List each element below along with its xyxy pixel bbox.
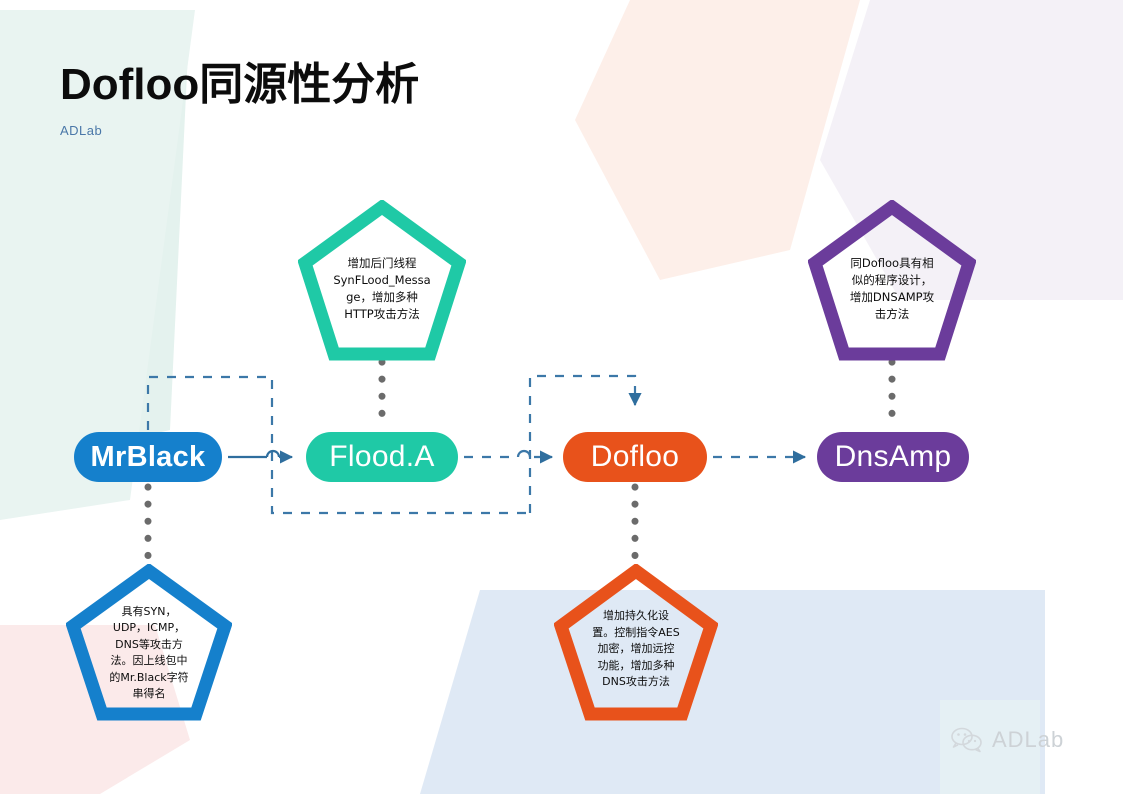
- node-dofloo[interactable]: Dofloo: [563, 432, 707, 482]
- callout-mrblack-note: 具有SYN， UDP，ICMP， DNS等攻击方 法。因上线包中 的Mr.Bla…: [66, 564, 232, 722]
- node-label: Dofloo: [591, 442, 680, 472]
- node-label: DnsAmp: [835, 442, 952, 472]
- callout-text: 同Dofloo具有相 似的程序设计， 增加DNSAMP攻 击方法: [808, 255, 976, 323]
- wechat-icon: [950, 727, 984, 753]
- callout-dnsamp-note: 同Dofloo具有相 似的程序设计， 增加DNSAMP攻 击方法: [808, 200, 976, 362]
- node-label: Flood.A: [329, 442, 435, 472]
- edge-mrblack-to-flooda: [228, 451, 292, 457]
- node-mrblack[interactable]: MrBlack: [74, 432, 222, 482]
- node-dnsamp[interactable]: DnsAmp: [817, 432, 969, 482]
- watermark-label: ADLab: [992, 727, 1064, 753]
- callout-text: 增加持久化设 置。控制指令AES 加密，增加远控 功能，增加多种 DNS攻击方法: [554, 608, 718, 691]
- callout-text: 具有SYN， UDP，ICMP， DNS等攻击方 法。因上线包中 的Mr.Bla…: [66, 604, 232, 703]
- edge-flooda-to-dofloo: [464, 451, 552, 457]
- callout-dofloo-note: 增加持久化设 置。控制指令AES 加密，增加远控 功能，增加多种 DNS攻击方法: [554, 564, 718, 722]
- slide-canvas: Dofloo同源性分析 ADLab: [0, 0, 1123, 794]
- watermark: ADLab: [950, 727, 1064, 753]
- callout-flooda-note: 增加后门线程 SynFLood_Messa ge，增加多种 HTTP攻击方法: [298, 200, 466, 362]
- stem-group: [148, 362, 892, 570]
- callout-text: 增加后门线程 SynFLood_Messa ge，增加多种 HTTP攻击方法: [298, 255, 466, 323]
- node-label: MrBlack: [91, 443, 206, 472]
- node-flooda[interactable]: Flood.A: [306, 432, 458, 482]
